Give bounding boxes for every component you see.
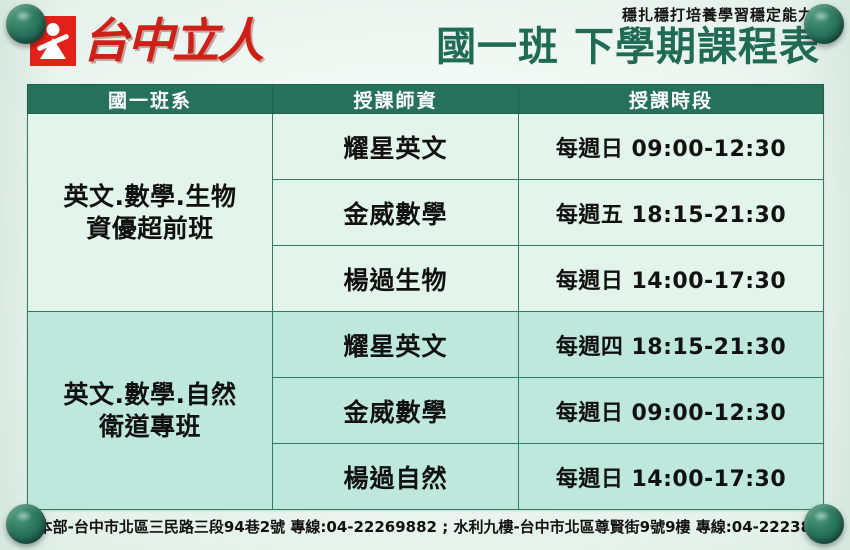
schedule-table: 國一班系 授課師資 授課時段 英文.數學.生物資優超前班耀星英文每週日 09:0…	[27, 84, 824, 510]
poster-header: 台中立人 穩扎穩打培養學習穩定能力 國一班 下學期課程表	[0, 0, 850, 84]
teacher-cell: 金威數學	[273, 180, 519, 246]
poster-footer: 台中本部-台中市北區三民路三段94巷2號 專線:04-22269882 ; 水利…	[0, 508, 850, 544]
class-group-cell: 英文.數學.生物資優超前班	[28, 114, 273, 312]
class-group-line-1: 英文.數學.自然	[28, 379, 272, 410]
title-block: 穩扎穩打培養學習穩定能力 國一班 下學期課程表	[436, 6, 820, 68]
table-row: 英文.數學.自然衛道專班耀星英文每週四 18:15-21:30	[28, 312, 824, 378]
table-row: 英文.數學.生物資優超前班耀星英文每週日 09:00-12:30	[28, 114, 824, 180]
teacher-cell: 楊過自然	[273, 444, 519, 510]
corner-stud-bottom-left-icon	[6, 504, 46, 544]
table-header: 國一班系 授課師資 授課時段	[28, 85, 824, 114]
time-cell: 每週日 14:00-17:30	[519, 246, 824, 312]
brand-logo: 台中立人	[30, 16, 262, 66]
column-header-time: 授課時段	[519, 85, 824, 114]
table-body: 英文.數學.生物資優超前班耀星英文每週日 09:00-12:30金威數學每週五 …	[28, 114, 824, 510]
footer-contact-text: 台中本部-台中市北區三民路三段94巷2號 專線:04-22269882 ; 水利…	[8, 516, 843, 537]
logo-figure-body	[40, 38, 66, 59]
course-schedule-poster: 台中立人 穩扎穩打培養學習穩定能力 國一班 下學期課程表 國一班系 授課師資 授…	[0, 0, 850, 550]
table-header-row: 國一班系 授課師資 授課時段	[28, 85, 824, 114]
time-cell: 每週日 09:00-12:30	[519, 114, 824, 180]
teacher-cell: 楊過生物	[273, 246, 519, 312]
logo-figure-head	[47, 23, 60, 36]
class-group-cell: 英文.數學.自然衛道專班	[28, 312, 273, 510]
column-header-class: 國一班系	[28, 85, 273, 114]
corner-stud-top-left-icon	[6, 4, 46, 44]
time-cell: 每週五 18:15-21:30	[519, 180, 824, 246]
teacher-cell: 耀星英文	[273, 312, 519, 378]
teacher-cell: 金威數學	[273, 378, 519, 444]
brand-name: 台中立人	[82, 18, 262, 65]
time-cell: 每週日 14:00-17:30	[519, 444, 824, 510]
time-cell: 每週日 09:00-12:30	[519, 378, 824, 444]
corner-stud-top-right-icon	[804, 4, 844, 44]
corner-stud-bottom-right-icon	[804, 504, 844, 544]
teacher-cell: 耀星英文	[273, 114, 519, 180]
column-header-teacher: 授課師資	[273, 85, 519, 114]
page-title: 國一班 下學期課程表	[436, 26, 820, 68]
class-group-line-2: 衛道專班	[28, 411, 272, 442]
class-group-line-1: 英文.數學.生物	[28, 181, 272, 212]
class-group-line-2: 資優超前班	[28, 213, 272, 244]
time-cell: 每週四 18:15-21:30	[519, 312, 824, 378]
slogan-text: 穩扎穩打培養學習穩定能力	[436, 6, 814, 24]
